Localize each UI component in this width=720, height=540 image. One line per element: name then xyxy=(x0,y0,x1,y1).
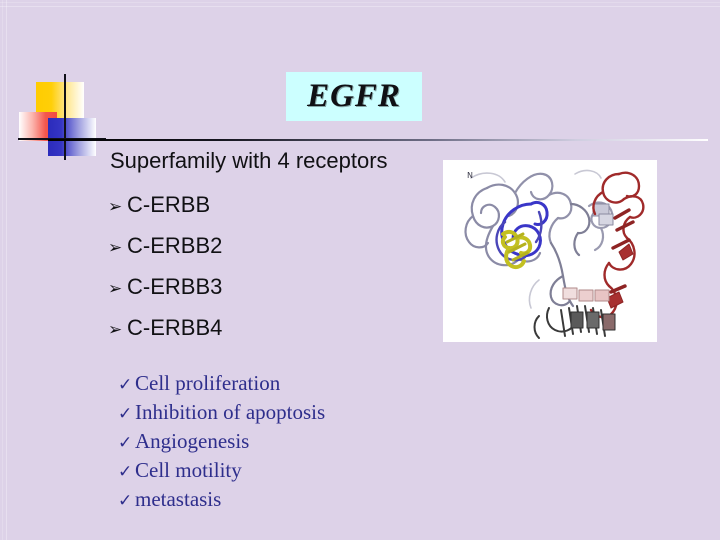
protein-ribbon-diagram: N xyxy=(443,160,657,342)
section-heading: Superfamily with 4 receptors xyxy=(110,148,388,174)
edge-guide-line xyxy=(0,2,720,3)
list-item-label: Angiogenesis xyxy=(135,429,249,454)
list-item-label: Cell motility xyxy=(135,458,242,483)
list-item: ➢ C-ERBB2 xyxy=(108,233,408,274)
list-item: ➢ C-ERBB4 xyxy=(108,315,408,356)
list-item-label: C-ERBB3 xyxy=(127,274,222,300)
slide-canvas: EGFR Superfamily with 4 receptors ➢ C-ER… xyxy=(0,0,720,540)
list-item-label: C-ERBB4 xyxy=(127,315,222,341)
arrow-bullet-icon: ➢ xyxy=(108,198,127,215)
edge-guide-line xyxy=(2,0,3,540)
edge-guide-line xyxy=(0,6,720,7)
title-divider-rule xyxy=(48,139,708,141)
list-item: ✓ Angiogenesis xyxy=(118,429,438,458)
protein-structure-image: N xyxy=(443,160,657,342)
page-title: EGFR xyxy=(307,80,401,113)
list-item: ✓ Cell motility xyxy=(118,458,438,487)
list-item: ➢ C-ERBB xyxy=(108,192,408,233)
list-item-label: C-ERBB xyxy=(127,192,210,218)
list-item-label: C-ERBB2 xyxy=(127,233,222,259)
list-item: ✓ metastasis xyxy=(118,487,438,516)
checkmark-icon: ✓ xyxy=(118,376,135,393)
checkmark-icon: ✓ xyxy=(118,405,135,422)
function-list: ✓ Cell proliferation ✓ Inhibition of apo… xyxy=(118,371,438,516)
edge-guide-line xyxy=(6,0,7,540)
list-item: ➢ C-ERBB3 xyxy=(108,274,408,315)
logo-blue-square xyxy=(48,118,96,156)
checkmark-icon: ✓ xyxy=(118,492,135,509)
list-item-label: Cell proliferation xyxy=(135,371,280,396)
arrow-bullet-icon: ➢ xyxy=(108,239,127,256)
logo-vertical-line xyxy=(64,74,66,160)
arrow-bullet-icon: ➢ xyxy=(108,280,127,297)
list-item: ✓ Cell proliferation xyxy=(118,371,438,400)
checkmark-icon: ✓ xyxy=(118,463,135,480)
title-box: EGFR xyxy=(286,72,422,121)
svg-text:N: N xyxy=(467,171,473,180)
checkmark-icon: ✓ xyxy=(118,434,135,451)
receptor-list: ➢ C-ERBB ➢ C-ERBB2 ➢ C-ERBB3 ➢ C-ERBB4 xyxy=(108,192,408,356)
list-item-label: metastasis xyxy=(135,487,221,512)
arrow-bullet-icon: ➢ xyxy=(108,321,127,338)
list-item-label: Inhibition of apoptosis xyxy=(135,400,325,425)
list-item: ✓ Inhibition of apoptosis xyxy=(118,400,438,429)
decorative-squares-logo xyxy=(14,74,106,160)
